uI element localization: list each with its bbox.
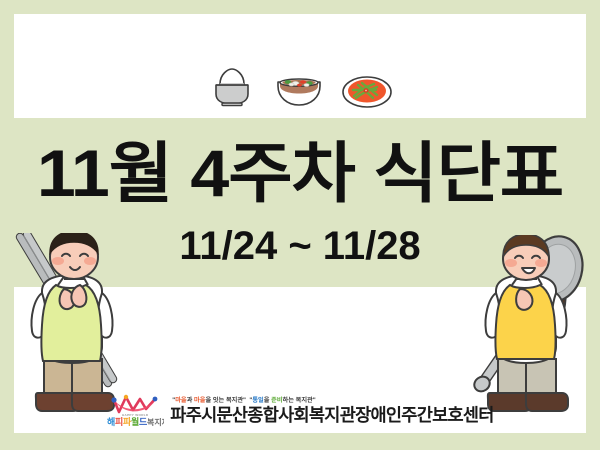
organization-logo-icon: HAPPY WORLD 해 피 파 월 드 복지재단 bbox=[106, 394, 164, 428]
organization-name: 파주시문산종합사회복지관장애인주간보호센터 bbox=[170, 405, 493, 425]
rice-bowl-icon bbox=[207, 62, 257, 112]
side-dish-icon bbox=[341, 68, 393, 112]
footer: HAPPY WORLD 해 피 파 월 드 복지재단 "마을과 마을을 잇는 복… bbox=[0, 388, 600, 433]
footer-text-block: "마을과 마을을 잇는 복지관" "통일을 준비하는 복지관" 파주시문산종합사… bbox=[170, 396, 493, 425]
meal-plan-poster: 11월 4주차 식단표 11/24 ~ 11/28 bbox=[0, 0, 600, 450]
food-icon-row bbox=[14, 14, 586, 118]
svg-text:복지재단: 복지재단 bbox=[147, 417, 164, 427]
page-title: 11월 4주차 식단표 bbox=[0, 132, 600, 214]
footer-slogan: "마을과 마을을 잇는 복지관" "통일을 준비하는 복지관" bbox=[172, 396, 315, 405]
soup-bowl-icon bbox=[271, 62, 327, 112]
top-image-panel bbox=[14, 14, 586, 118]
